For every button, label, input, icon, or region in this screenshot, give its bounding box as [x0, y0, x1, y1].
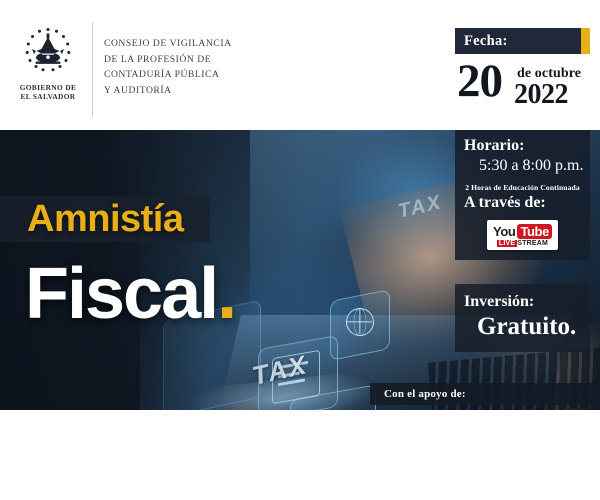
livestream-live-text: LIVE: [497, 240, 517, 247]
youtube-tube-text: Tube: [517, 224, 552, 239]
price-label: Inversión:: [464, 292, 590, 311]
council-line1: CONSEJO DE VIGILANCIA: [104, 36, 344, 52]
header-gov-line1: GOBIERNO DE: [20, 83, 77, 92]
header-gov-line2: EL SALVADOR: [20, 92, 77, 101]
hero-title-period: .: [217, 254, 235, 334]
schedule-panel: Horario: 5:30 a 8:00 p.m. 2 Horas de Edu…: [455, 130, 590, 260]
schedule-label: Horario:: [464, 136, 590, 156]
hero-title-line2: Fiscal.: [25, 258, 235, 330]
youtube-livestream-badge[interactable]: You Tube LIVE STREAM: [487, 220, 558, 250]
el-salvador-coat-of-arms-icon: [21, 24, 75, 78]
council-name: CONSEJO DE VIGILANCIA DE LA PROFESIÓN DE…: [104, 36, 344, 98]
date-accent-bar: [581, 28, 590, 54]
date-label: Fecha:: [464, 33, 508, 50]
date-label-bar: Fecha:: [455, 28, 590, 54]
youtube-you-text: You: [493, 224, 515, 239]
support-label: Con el apoyo de:: [384, 388, 466, 400]
council-line4: Y AUDITORÍA: [104, 83, 344, 99]
channel-label: A través de:: [464, 193, 590, 213]
header-logo: GOBIERNO DE EL SALVADOR: [12, 22, 84, 118]
info-panel: Horario: 5:30 a 8:00 p.m. 2 Horas de Edu…: [455, 130, 590, 352]
hero-title-line2-text: Fiscal: [25, 254, 217, 334]
youtube-badge-wrap: You Tube LIVE STREAM: [455, 220, 590, 250]
council-line3: CONTADURÍA PÚBLICA: [104, 67, 344, 83]
price-value: Gratuito.: [477, 311, 590, 342]
date-year: 2022: [514, 81, 568, 109]
price-panel: Inversión: Gratuito.: [455, 284, 590, 352]
amnesty-poster: TAX TAX Amnistía Fiscal. Horario: 5:30 a…: [0, 0, 600, 500]
council-line2: DE LA PROFESIÓN DE: [104, 52, 344, 68]
support-bar: Con el apoyo de:: [370, 383, 600, 405]
youtube-wordmark: You Tube: [493, 224, 552, 239]
livestream-wordmark: LIVE STREAM: [497, 240, 548, 247]
footer: GOBIERNO DE EL SALVADOR MINISTERIO DE HA…: [0, 410, 600, 500]
header-gov-text: GOBIERNO DE EL SALVADOR: [20, 83, 77, 102]
schedule-value: 5:30 a 8:00 p.m.: [479, 156, 590, 176]
continuing-education-note: 2 Horas de Educación Continuada: [459, 183, 586, 192]
date-day: 20: [457, 58, 502, 105]
date-block: Fecha: 20 de octubre 2022: [455, 28, 590, 118]
date-values: 20 de octubre 2022: [455, 62, 590, 118]
hero-title-line1: Amnistía: [27, 200, 183, 238]
livestream-stream-text: STREAM: [517, 240, 548, 247]
header-divider: [92, 22, 93, 116]
